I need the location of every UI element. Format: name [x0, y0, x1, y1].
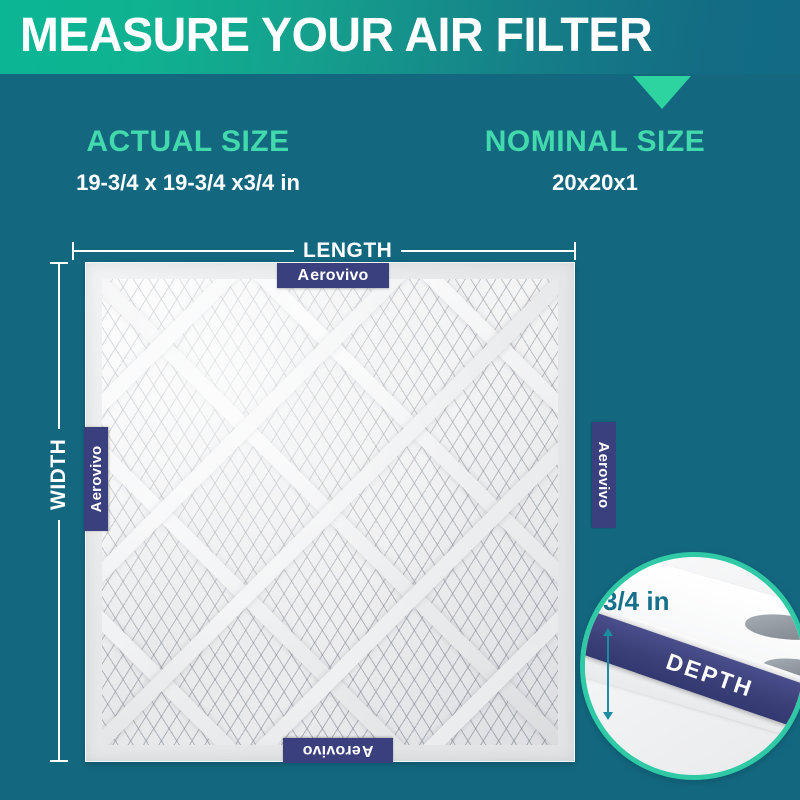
brand-a-glyph: A	[362, 742, 374, 760]
width-label: WIDTH	[44, 430, 74, 520]
actual-size-value: 19-3/4 x 19-3/4 x3/4 in	[40, 168, 336, 198]
brand-name-top: erovivo	[310, 267, 368, 285]
depth-measure-arrow-icon	[607, 635, 609, 713]
width-label-text: WIDTH	[47, 429, 70, 520]
brand-tag-top: Aerovivo	[277, 263, 389, 288]
brand-tag-left: Aerovivo	[84, 427, 108, 531]
brand-name-bottom: erovivo	[302, 742, 360, 760]
infographic-canvas: MEASURE YOUR AIR FILTER ACTUAL SIZE 19-3…	[0, 0, 800, 800]
nominal-size-heading: NOMINAL SIZE	[455, 124, 735, 160]
page-title: MEASURE YOUR AIR FILTER	[20, 4, 765, 68]
header-banner: MEASURE YOUR AIR FILTER	[0, 0, 800, 74]
brand-tag-bottom: Aerovivo	[283, 738, 393, 763]
brand-a-glyph: A	[596, 442, 613, 453]
brand-name-left: erovivo	[88, 446, 105, 501]
brand-a-glyph: A	[88, 501, 105, 512]
depth-detail-callout: DEPTH 3/4 in	[580, 552, 800, 780]
triangle-down-icon	[633, 76, 691, 109]
actual-size-heading: ACTUAL SIZE	[40, 124, 336, 160]
filter-pleat-media	[102, 279, 558, 745]
nominal-size-block: NOMINAL SIZE 20x20x1	[455, 124, 735, 198]
brand-a-glyph: A	[297, 267, 309, 285]
brand-tag-right: Aerovivo	[592, 422, 616, 528]
actual-size-block: ACTUAL SIZE 19-3/4 x 19-3/4 x3/4 in	[40, 124, 336, 198]
filter-diamond-lattice	[102, 279, 558, 745]
air-filter-image	[85, 262, 575, 762]
depth-value: 3/4 in	[603, 585, 669, 617]
brand-name-right: erovivo	[596, 454, 613, 509]
nominal-size-value: 20x20x1	[455, 168, 735, 198]
